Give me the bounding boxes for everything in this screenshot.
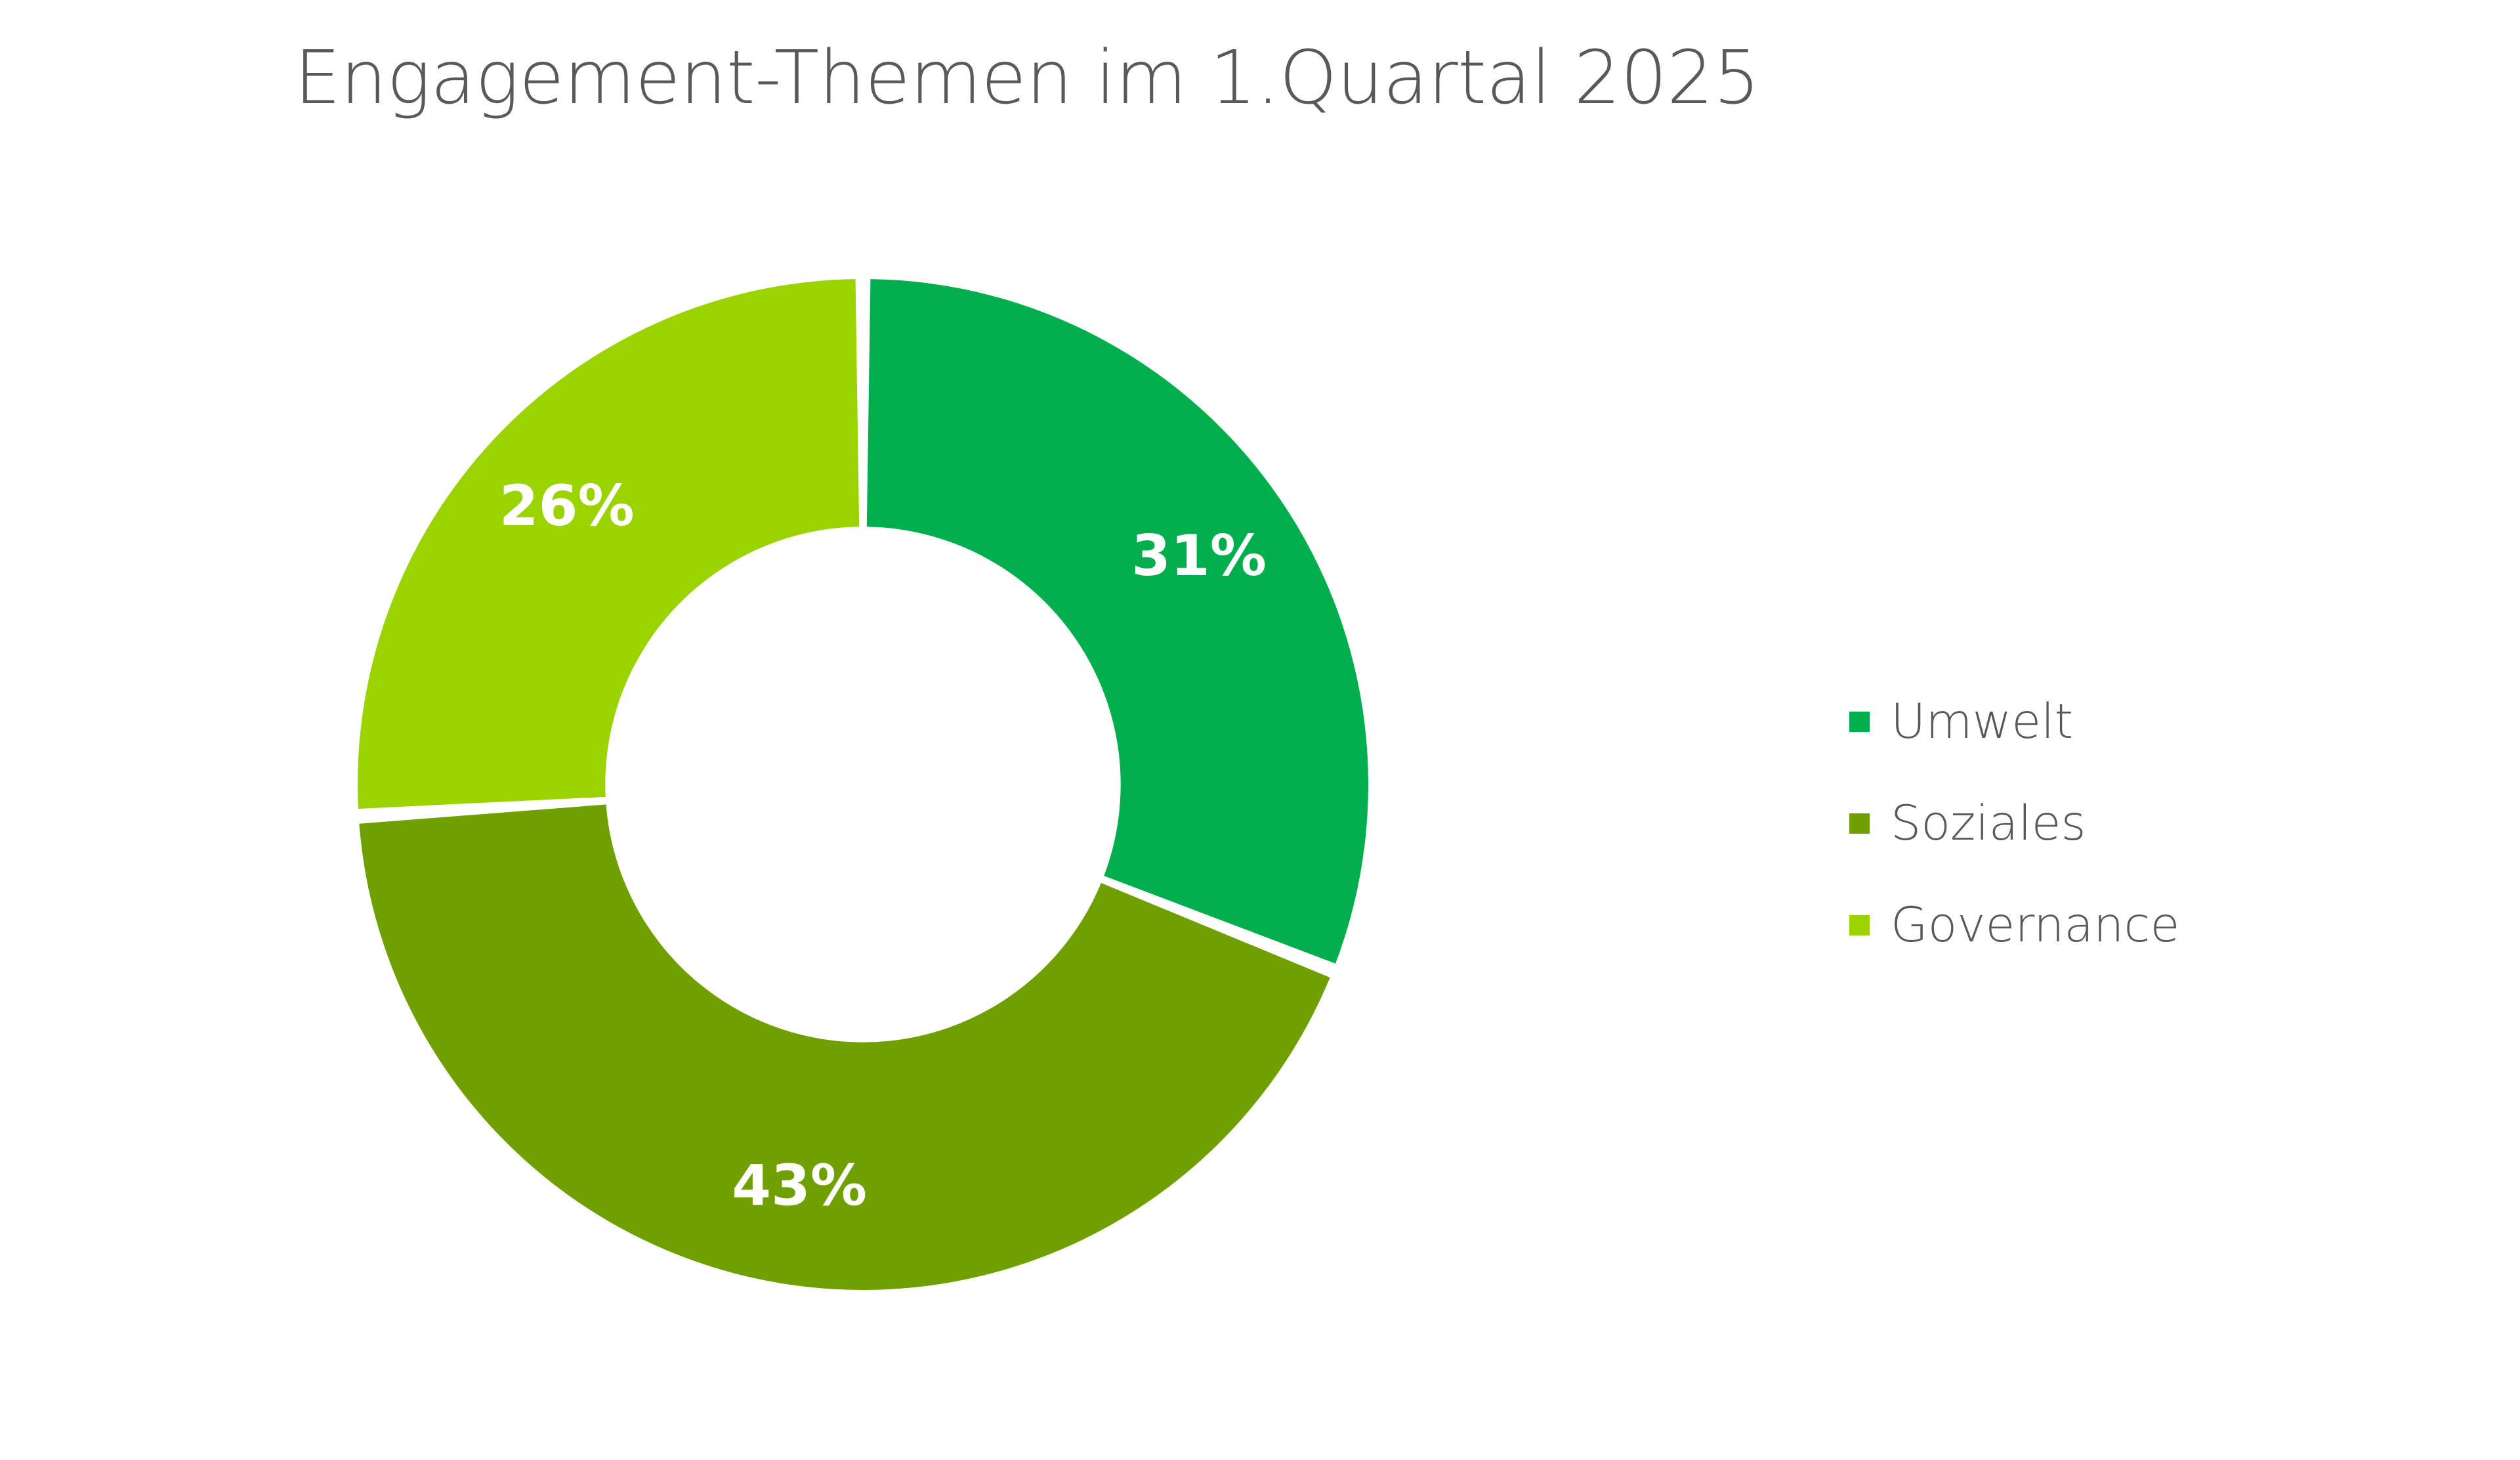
donut-plot-area: 31%43%26% [358, 279, 1368, 1290]
donut-svg: 31%43%26% [358, 279, 1368, 1290]
slice-data-label: 31% [1131, 523, 1267, 589]
legend-item-label: Umwelt [1891, 698, 2073, 746]
legend-item-soziales[interactable]: Soziales [1849, 773, 2348, 874]
slice-data-label: 26% [499, 473, 635, 539]
legend-item-umwelt[interactable]: Umwelt [1849, 671, 2348, 773]
donut-slice-umwelt[interactable] [867, 279, 1368, 964]
chart-title: Engagement-Themen im 1.Quartal 2025 [0, 38, 2054, 119]
square-marker-icon [1849, 813, 1870, 834]
legend: Umwelt Soziales Governance [1849, 671, 2348, 976]
square-marker-icon [1849, 712, 1870, 732]
donut-slice-group [358, 279, 1368, 1290]
donut-chart-figure: Engagement-Themen im 1.Quartal 2025 31%4… [0, 0, 2520, 1460]
legend-item-label: Governance [1891, 901, 2179, 949]
legend-item-governance[interactable]: Governance [1849, 874, 2348, 976]
donut-slice-governance[interactable] [358, 279, 859, 809]
legend-item-label: Soziales [1891, 800, 2086, 848]
square-marker-icon [1849, 915, 1870, 935]
slice-data-label: 43% [732, 1153, 867, 1218]
